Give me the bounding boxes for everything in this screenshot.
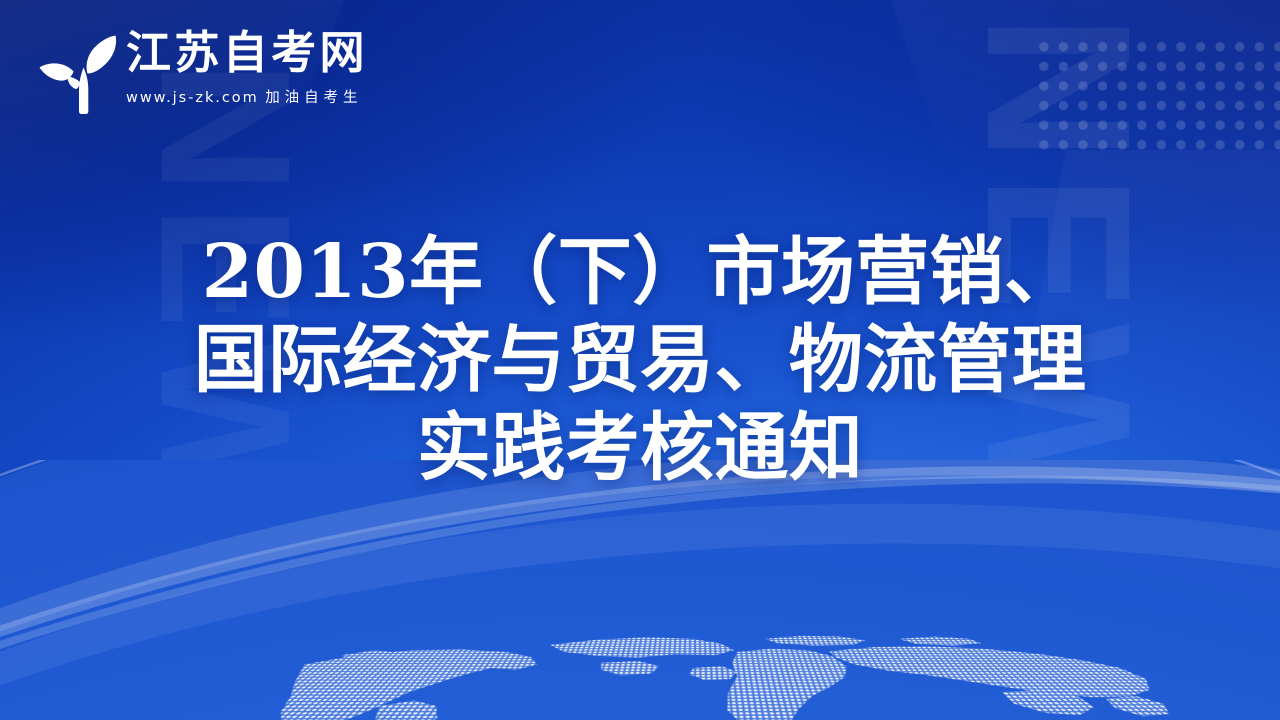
page-title: 2013年（下）市场营销、国际经济与贸易、物流管理实践考核通知 [190, 228, 1090, 492]
page-title-line-2: 国际经济与贸易、物流管 [194, 317, 1012, 403]
sprout-seedling-icon [36, 22, 122, 114]
dot-grid-top-right [1034, 37, 1280, 156]
logo-text-block: 江苏自考网 www.js-zk.com加油自考生 [126, 29, 368, 107]
site-url: www.js-zk.com [126, 90, 259, 106]
dotted-world-map-icon [154, 629, 1235, 720]
site-subtitle: www.js-zk.com加油自考生 [126, 86, 368, 107]
page-title-line-1: 2013年（下）市场营销、 [202, 229, 1079, 315]
site-logo[interactable]: 江苏自考网 www.js-zk.com加油自考生 [36, 22, 368, 114]
globe-section [0, 460, 1280, 720]
site-name: 江苏自考网 [126, 29, 368, 77]
site-slogan: 加油自考生 [265, 90, 362, 106]
banner-canvas: NEWS NEWS [0, 0, 1280, 720]
